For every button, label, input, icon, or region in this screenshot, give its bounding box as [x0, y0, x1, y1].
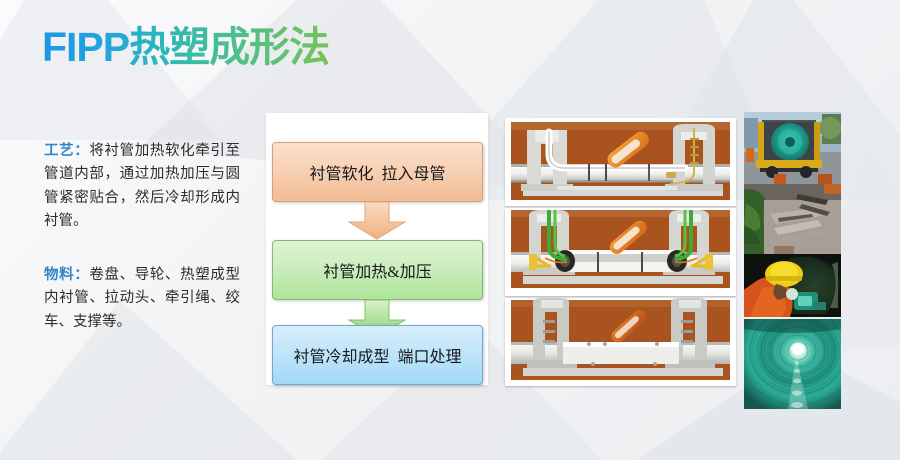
illustration-cooling-endwork: [505, 298, 736, 386]
orange-down-arrow-icon: [348, 202, 406, 240]
page-title: FIPP热塑成形法: [42, 22, 329, 73]
flowchart-card: 衬管软化 拉入母管 衬管加热&加压: [266, 113, 488, 385]
slide-canvas: FIPP热塑成形法 工艺：将衬管加热软化牵引至管道内部，通过加热加压与圆管紧密贴…: [0, 0, 900, 460]
illustration-column: [505, 118, 736, 388]
flow-step-heating-pressurizing[interactable]: 衬管加热&加压: [272, 240, 483, 300]
flow-step-cooling-endwork[interactable]: 衬管冷却成型 端口处理: [272, 325, 483, 385]
paragraph-lead: 工艺：: [44, 143, 89, 159]
text-column: 工艺：将衬管加热软化牵引至管道内部，通过加热加压与圆管紧密贴合，然后冷却形成内衬…: [44, 140, 240, 364]
illustration-liner-pullin: [505, 118, 736, 206]
photo-worker-manhole: [744, 254, 841, 317]
flowchart: 衬管软化 拉入母管 衬管加热&加压: [266, 113, 488, 385]
photo-liner-reel-truck: [744, 112, 841, 184]
illustration-heating-pressurizing: [505, 208, 736, 296]
flow-step-softening[interactable]: 衬管软化 拉入母管: [272, 142, 483, 202]
photo-liner-interior: [744, 319, 841, 409]
paragraph-materials: 物料：卷盘、导轮、热塑成型内衬管、拉动头、牵引绳、绞车、支撑等。: [44, 264, 240, 334]
paragraph-lead: 物料：: [44, 267, 89, 283]
photo-column: [744, 112, 841, 409]
paragraph-process: 工艺：将衬管加热软化牵引至管道内部，通过加热加压与圆管紧密贴合，然后冷却形成内衬…: [44, 140, 240, 234]
photo-site-equipment: [744, 184, 841, 254]
